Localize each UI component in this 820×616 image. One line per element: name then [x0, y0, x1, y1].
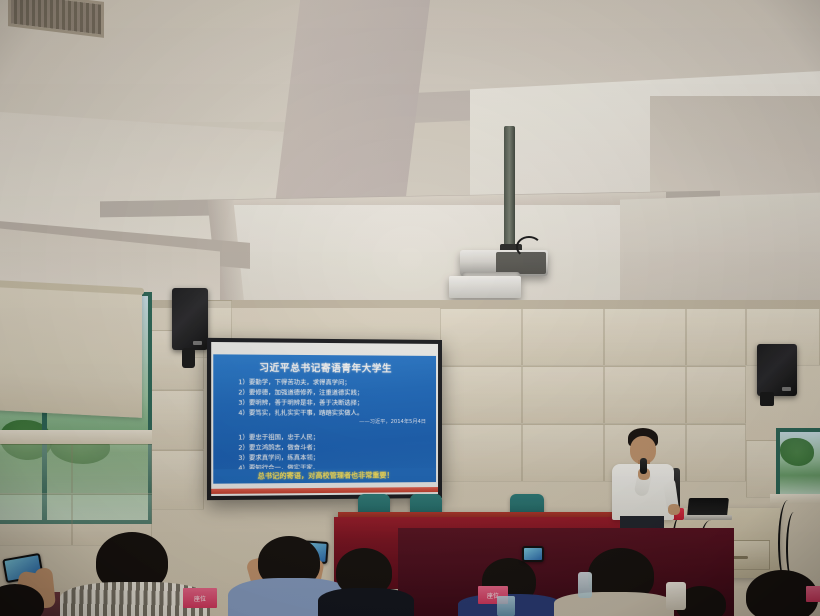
bullet-number: 2） — [238, 389, 249, 396]
water-bottle[interactable] — [578, 572, 592, 598]
wall-panel — [0, 494, 72, 546]
drinking-glass[interactable] — [497, 596, 515, 616]
bullet-number: 1） — [238, 434, 249, 441]
window-sill-right — [770, 494, 820, 504]
bullet-text: 要勤学，下得苦功夫，求得真学问； — [249, 379, 351, 387]
wall-panel — [522, 424, 604, 482]
slide-title: 习近平总书记寄语青年大学生 — [213, 359, 436, 375]
bullet-text: 要笃实，扎扎实实干事，踏踏实实做人。 — [249, 410, 363, 417]
speaker-bracket-right — [760, 392, 774, 406]
slide-bullet: 2）要修德，加强道德修养，注重道德实践； — [238, 387, 363, 397]
wall-panel — [604, 366, 686, 424]
paper-cup[interactable] — [666, 582, 686, 610]
wall-panel — [522, 308, 604, 366]
projector-cable — [516, 236, 542, 258]
window-right — [776, 428, 820, 498]
slide-attribution: ——习近平，2014年5月4日 — [359, 418, 426, 425]
slide-footer-text: 总书记的寄语，对高校管理者也非常重要！ — [213, 470, 436, 482]
projection-screen: 习近平总书记寄语青年大学生 1）要勤学，下得苦功夫，求得真学问； 2）要修德，加… — [207, 338, 442, 500]
laptop-screen[interactable] — [687, 498, 729, 516]
ceiling-panel-left — [0, 0, 330, 122]
wall-panel — [0, 444, 72, 494]
speaker-right — [757, 344, 797, 396]
speaker-left — [172, 288, 208, 350]
phone-screen — [524, 548, 542, 560]
slide-content: 习近平总书记寄语青年大学生 1）要勤学，下得苦功夫，求得真学问； 2）要修德，加… — [213, 354, 436, 481]
ceiling-air-vent — [8, 0, 104, 38]
ceiling — [0, 0, 820, 330]
name-card — [806, 586, 820, 602]
name-card: 座位 — [183, 588, 217, 608]
slide-bullet: 4）要笃实，扎扎实实干事，踏踏实实做人。 — [238, 408, 363, 417]
wall-panel — [686, 366, 746, 424]
audience-torso — [318, 588, 414, 616]
slide-footer-band: 总书记的寄语，对高校管理者也非常重要！ — [213, 468, 436, 484]
window-frame-right — [776, 428, 820, 498]
bullet-text: 要忠于祖国，忠于人民； — [249, 434, 319, 441]
wall-panel — [440, 366, 522, 424]
projector-underside — [449, 276, 521, 298]
bullet-number: 3） — [238, 400, 249, 407]
wall-panel — [604, 308, 686, 366]
phone[interactable] — [522, 546, 544, 562]
microphone[interactable] — [640, 458, 647, 474]
window-blind-left[interactable] — [0, 284, 142, 418]
bullet-text: 要明辨，善于明辨是非，善于决断选择； — [249, 400, 363, 407]
slide-bullet: 2）要立鸿鹄志，做奋斗者； — [238, 442, 319, 451]
wall-panel — [440, 424, 522, 482]
bullet-number: 4） — [238, 410, 249, 417]
wall-panel — [686, 308, 746, 366]
lecture-hall-photo: 习近平总书记寄语青年大学生 1）要勤学，下得苦功夫，求得真学问； 2）要修德，加… — [0, 0, 820, 616]
bullet-text: 要求真学问，练真本领； — [249, 455, 319, 462]
audience-torso — [554, 592, 674, 616]
bullet-number: 2） — [238, 445, 249, 452]
drawer-handle[interactable] — [732, 556, 748, 559]
speaker-bracket-left — [182, 348, 195, 368]
wall-panel — [440, 308, 522, 366]
slide-bullet: 1）要忠于祖国，忠于人民； — [238, 432, 319, 441]
laptop-base[interactable] — [684, 515, 732, 520]
slide-bullet: 1）要勤学，下得苦功夫，求得真学问； — [238, 377, 350, 387]
wall-panel — [686, 424, 746, 482]
bullet-text: 要立鸿鹄志，做奋斗者； — [249, 444, 319, 451]
slide-bullet: 3）要明辨，善于明辨是非，善于决断选择； — [238, 398, 363, 407]
ceiling-panel-right-lower — [620, 192, 820, 309]
slide-bullet: 3）要求真学问，练真本领； — [238, 452, 319, 462]
bullet-number: 3） — [238, 455, 249, 462]
wall-panel — [72, 444, 152, 494]
projector-pole — [504, 126, 515, 251]
wall-panel — [522, 366, 604, 424]
presenter-hand — [668, 504, 680, 515]
bullet-number: 1） — [238, 379, 249, 386]
window-sill-left — [0, 430, 152, 444]
bullet-text: 要修德，加强道德修养，注重道德实践； — [249, 389, 363, 396]
